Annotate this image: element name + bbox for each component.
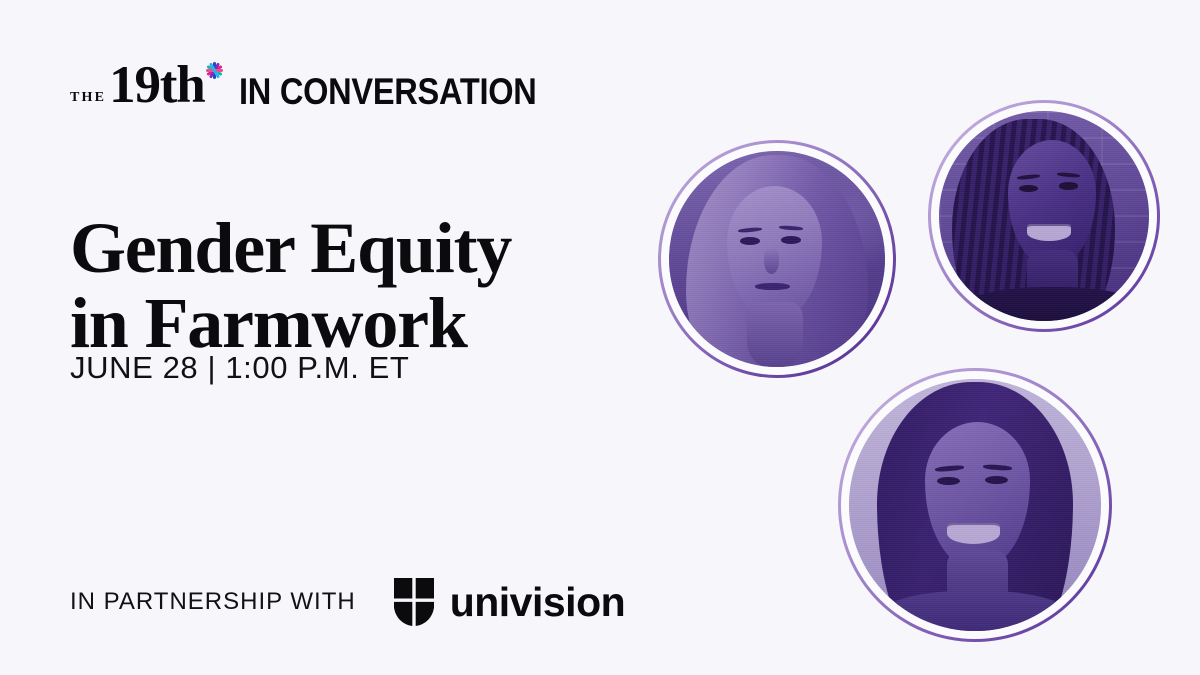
- portrait-artwork: [669, 151, 885, 367]
- brand-lockup: THE 19th IN CONVERSATION: [70, 58, 577, 112]
- portrait-photo: [669, 151, 885, 367]
- portrait-artwork: [849, 379, 1101, 631]
- the-19th-logo: THE 19th: [70, 59, 223, 112]
- logo-the-word: THE: [70, 91, 106, 105]
- partnership-label: IN PARTNERSHIP WITH: [70, 588, 356, 616]
- univision-wordmark: univision: [450, 582, 625, 623]
- colored-asterisk-icon: [206, 62, 223, 79]
- speaker-portrait-2: [928, 100, 1160, 332]
- univision-logo: univision: [392, 576, 625, 628]
- portrait-artwork: [939, 111, 1149, 321]
- event-datetime: JUNE 28 | 1:00 P.M. ET: [70, 350, 409, 386]
- portrait-photo: [939, 111, 1149, 321]
- univision-shield-icon: [392, 576, 436, 628]
- portrait-ring-gap: [661, 143, 893, 375]
- logo-nineteenth-word: 19th: [109, 59, 204, 112]
- portrait-ring-gap: [931, 103, 1157, 329]
- event-promo-poster: THE 19th IN CONVERSATION Gender Equity i…: [0, 0, 1200, 675]
- page-title: Gender Equity in Farmwork: [70, 211, 630, 361]
- speaker-portrait-1: [658, 140, 896, 378]
- text-column: THE 19th IN CONVERSATION Gender Equity i…: [70, 0, 650, 675]
- portrait-photo: [849, 379, 1101, 631]
- partnership-row: IN PARTNERSHIP WITH univision: [70, 578, 625, 626]
- speaker-portrait-3: [838, 368, 1112, 642]
- series-title: IN CONVERSATION: [239, 73, 537, 112]
- portrait-ring-gap: [841, 371, 1109, 639]
